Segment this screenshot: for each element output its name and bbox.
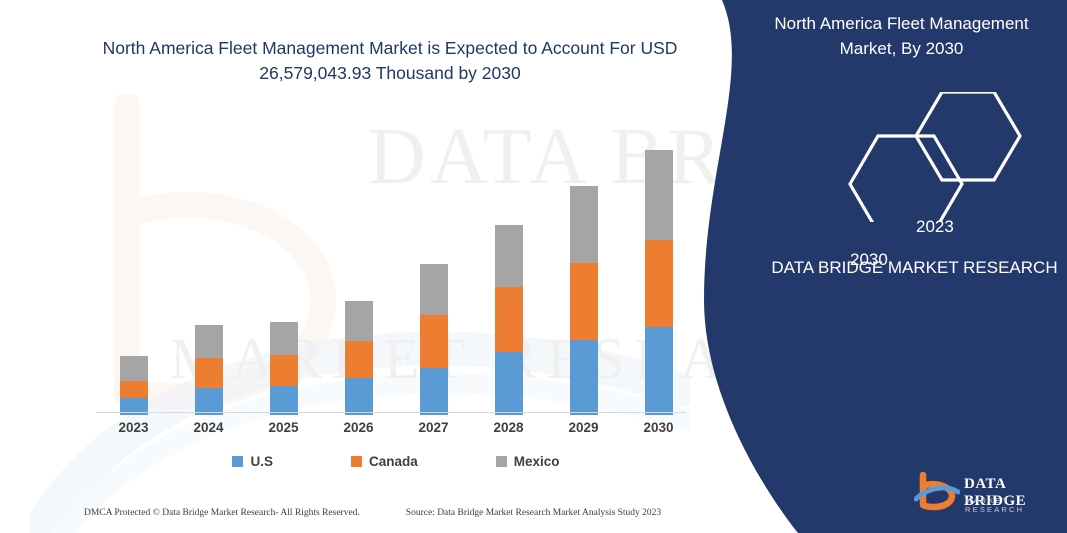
legend-item-Mexico[interactable]: Mexico <box>496 454 560 469</box>
stacked-bar-chart <box>96 130 696 415</box>
bar-segment-Canada-2025 <box>270 355 298 386</box>
x-axis-label-2026: 2026 <box>324 420 394 435</box>
chart-x-axis-labels: 20232024202520262027202820292030 <box>96 420 696 444</box>
x-axis-label-2030: 2030 <box>624 420 694 435</box>
bar-segment-Canada-2027 <box>420 315 448 367</box>
bar-segment-US-2027 <box>420 368 448 415</box>
x-axis-label-2023: 2023 <box>99 420 169 435</box>
chart-legend: U.SCanadaMexico <box>96 454 696 469</box>
bar-group-2029 <box>570 186 598 415</box>
bar-segment-Mexico-2028 <box>495 225 523 287</box>
bar-segment-Canada-2029 <box>570 263 598 341</box>
logo-text-sub: MARKET RESEARCH <box>965 496 1056 514</box>
bar-group-2024 <box>195 325 223 415</box>
footer-source: Source: Data Bridge Market Research Mark… <box>406 508 661 518</box>
bar-segment-US-2028 <box>495 352 523 415</box>
legend-label: Canada <box>369 454 418 469</box>
bar-segment-Canada-2024 <box>195 358 223 388</box>
legend-item-Canada[interactable]: Canada <box>351 454 418 469</box>
legend-swatch-icon <box>351 456 362 467</box>
bar-group-2028 <box>495 225 523 415</box>
legend-swatch-icon <box>232 456 243 467</box>
bar-segment-Canada-2023 <box>120 381 148 398</box>
hexagon-label-2023: 2023 <box>916 217 954 237</box>
brand-name: DATA BRIDGE MARKET RESEARCH <box>700 255 1067 281</box>
x-axis-label-2028: 2028 <box>474 420 544 435</box>
bar-segment-Canada-2030 <box>645 240 673 328</box>
bar-group-2023 <box>120 356 148 415</box>
bar-segment-Canada-2028 <box>495 287 523 351</box>
bar-segment-Mexico-2029 <box>570 186 598 263</box>
data-bridge-logo: DATA BRIDGE MARKET RESEARCH <box>914 472 1056 516</box>
bar-group-2025 <box>270 322 298 415</box>
chart-x-axis-line <box>96 412 686 413</box>
hexagon-group: 2030 2023 <box>808 92 1038 222</box>
x-axis-label-2029: 2029 <box>549 420 619 435</box>
legend-label: Mexico <box>514 454 560 469</box>
bar-group-2030 <box>645 150 673 415</box>
bar-segment-US-2025 <box>270 386 298 415</box>
left-content-panel: North America Fleet Management Market is… <box>0 0 740 533</box>
hexagon-shapes-icon <box>808 92 1038 222</box>
bar-segment-US-2024 <box>195 388 223 415</box>
infographic-root: DATA BRIDGE MARKET RESEARCH North Americ… <box>0 0 1067 533</box>
bar-segment-US-2026 <box>345 378 373 415</box>
right-brand-panel: North America Fleet Management Market, B… <box>700 0 1067 533</box>
bar-group-2027 <box>420 264 448 415</box>
legend-swatch-icon <box>496 456 507 467</box>
legend-label: U.S <box>250 454 273 469</box>
right-panel-title: North America Fleet Management Market, B… <box>700 12 1067 61</box>
bar-segment-Mexico-2023 <box>120 356 148 381</box>
bar-group-2026 <box>345 301 373 415</box>
bar-segment-US-2029 <box>570 340 598 415</box>
footer-copyright: DMCA Protected © Data Bridge Market Rese… <box>84 508 360 518</box>
bar-segment-Mexico-2025 <box>270 322 298 354</box>
bar-segment-US-2030 <box>645 327 673 415</box>
footer: DMCA Protected © Data Bridge Market Rese… <box>84 508 694 518</box>
bar-segment-Mexico-2030 <box>645 150 673 240</box>
x-axis-label-2025: 2025 <box>249 420 319 435</box>
bar-segment-Canada-2026 <box>345 341 373 378</box>
bar-segment-Mexico-2026 <box>345 301 373 340</box>
data-bridge-b-mark-icon <box>914 472 960 512</box>
bar-segment-Mexico-2024 <box>195 325 223 357</box>
x-axis-label-2024: 2024 <box>174 420 244 435</box>
legend-item-US[interactable]: U.S <box>232 454 273 469</box>
page-title: North America Fleet Management Market is… <box>90 36 690 87</box>
x-axis-label-2027: 2027 <box>399 420 469 435</box>
bar-segment-Mexico-2027 <box>420 264 448 315</box>
